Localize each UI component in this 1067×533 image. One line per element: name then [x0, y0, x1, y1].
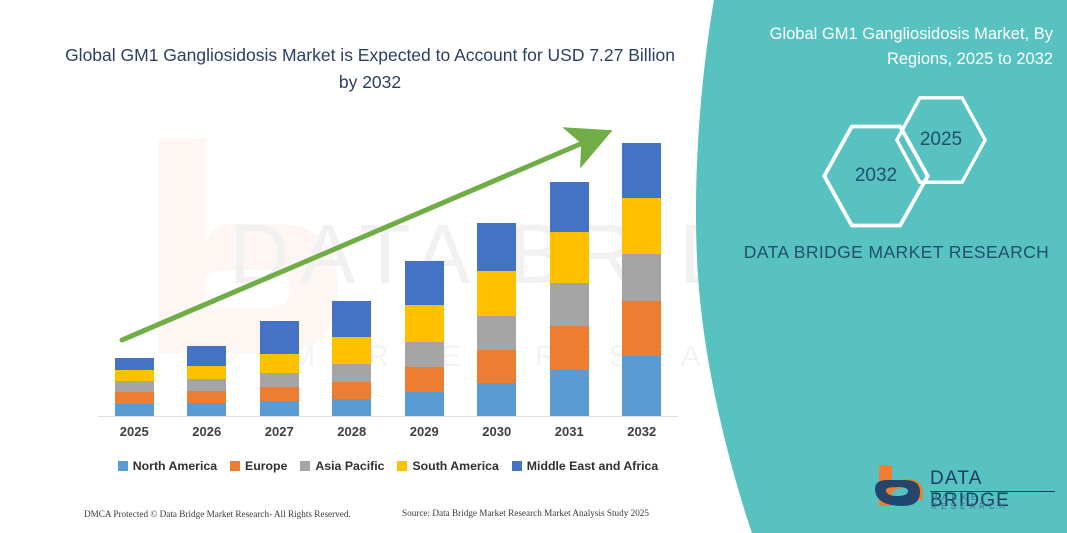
bar-segment[interactable] — [187, 366, 226, 379]
legend-label: Middle East and Africa — [527, 459, 658, 473]
panel-content: Global GM1 Gangliosidosis Market, By Reg… — [726, 0, 1067, 533]
bar-segment[interactable] — [115, 381, 154, 392]
x-axis-label-2030: 2030 — [461, 424, 533, 439]
bar-segment[interactable] — [115, 358, 154, 370]
chart-legend: North AmericaEuropeAsia PacificSouth Ame… — [98, 459, 678, 473]
x-axis-label-2025: 2025 — [98, 424, 170, 439]
logo-secondary-text: MARKET RESEARCH — [931, 493, 1062, 511]
legend-item[interactable]: Asia Pacific — [300, 459, 384, 473]
bar-segment[interactable] — [115, 370, 154, 381]
chart-area: Global GM1 Gangliosidosis Market is Expe… — [0, 0, 726, 533]
bar-segment[interactable] — [260, 387, 299, 401]
legend-label: South America — [412, 459, 498, 473]
bar-segment[interactable] — [260, 373, 299, 387]
bar-2030[interactable] — [477, 223, 516, 416]
bar-segment[interactable] — [405, 305, 444, 342]
bar-segment[interactable] — [477, 383, 516, 416]
legend-label: Asia Pacific — [315, 459, 384, 473]
bar-segment[interactable] — [187, 379, 226, 391]
legend-swatch-icon — [230, 461, 240, 471]
legend-swatch-icon — [300, 461, 310, 471]
bar-segment[interactable] — [115, 392, 154, 404]
x-axis-label-2032: 2032 — [606, 424, 678, 439]
x-axis-line — [98, 416, 678, 417]
company-logo: DATA BRIDGE MARKET RESEARCH — [872, 462, 1062, 514]
bar-segment[interactable] — [187, 403, 226, 416]
bar-segment[interactable] — [332, 382, 371, 399]
bar-2031[interactable] — [550, 182, 589, 416]
page-title: Global GM1 Gangliosidosis Market is Expe… — [60, 42, 680, 96]
bar-segment[interactable] — [622, 254, 661, 301]
bar-2026[interactable] — [187, 346, 226, 416]
legend-swatch-icon — [512, 461, 522, 471]
b-logo-icon — [872, 462, 928, 510]
bar-segment[interactable] — [550, 283, 589, 326]
legend-item[interactable]: Middle East and Africa — [512, 459, 658, 473]
bar-2032[interactable] — [622, 143, 661, 416]
legend-swatch-icon — [397, 461, 407, 471]
x-axis-label-2026: 2026 — [171, 424, 243, 439]
bar-2029[interactable] — [405, 261, 444, 416]
bar-segment[interactable] — [405, 261, 444, 305]
bar-segment[interactable] — [477, 223, 516, 271]
bar-segment[interactable] — [477, 316, 516, 350]
bar-segment[interactable] — [550, 370, 589, 416]
x-axis-label-2028: 2028 — [316, 424, 388, 439]
bar-segment[interactable] — [332, 301, 371, 337]
bar-segment[interactable] — [622, 301, 661, 356]
hexagon-end-year: 2032 — [821, 120, 931, 232]
legend-label: Europe — [245, 459, 287, 473]
bar-segment[interactable] — [622, 143, 661, 198]
bar-segment[interactable] — [260, 321, 299, 354]
bar-segment[interactable] — [332, 399, 371, 416]
infographic-root: DATA BRIDGE MARKET RESEARCH Global GM1 G… — [0, 0, 1067, 533]
bar-segment[interactable] — [260, 354, 299, 373]
bar-segment[interactable] — [260, 401, 299, 416]
copyright-notice: DMCA Protected © Data Bridge Market Rese… — [84, 509, 351, 519]
panel-title: Global GM1 Gangliosidosis Market, By Reg… — [738, 22, 1053, 72]
hexagon-group: 2025 2032 — [821, 92, 1021, 207]
bar-segment[interactable] — [115, 404, 154, 416]
bar-2025[interactable] — [115, 358, 154, 416]
x-axis-label-2027: 2027 — [243, 424, 315, 439]
bar-segment[interactable] — [332, 364, 371, 382]
legend-item[interactable]: South America — [397, 459, 498, 473]
stacked-bar-plot — [98, 120, 678, 416]
bar-segment[interactable] — [622, 198, 661, 254]
x-axis-labels: 20252026202720282029203020312032 — [98, 424, 678, 446]
bar-segment[interactable] — [477, 350, 516, 383]
bar-segment[interactable] — [550, 182, 589, 232]
hexagon-end-year-label: 2032 — [821, 120, 931, 232]
bar-2027[interactable] — [260, 321, 299, 416]
bar-segment[interactable] — [622, 356, 661, 416]
bar-segment[interactable] — [332, 337, 371, 364]
legend-swatch-icon — [118, 461, 128, 471]
bar-segment[interactable] — [187, 391, 226, 403]
legend-label: North America — [133, 459, 217, 473]
bar-segment[interactable] — [405, 392, 444, 416]
legend-item[interactable]: Europe — [230, 459, 287, 473]
bar-segment[interactable] — [187, 346, 226, 366]
source-notice: Source: Data Bridge Market Research Mark… — [402, 508, 649, 518]
x-axis-label-2029: 2029 — [388, 424, 460, 439]
bar-segment[interactable] — [550, 326, 589, 370]
logo-divider — [930, 491, 1055, 492]
bar-2028[interactable] — [332, 301, 371, 416]
bar-segment[interactable] — [405, 342, 444, 367]
legend-item[interactable]: North America — [118, 459, 217, 473]
bar-segment[interactable] — [477, 271, 516, 316]
x-axis-label-2031: 2031 — [533, 424, 605, 439]
bar-segment[interactable] — [405, 367, 444, 392]
brand-name: DATA BRIDGE MARKET RESEARCH — [726, 238, 1067, 266]
bar-segment[interactable] — [550, 232, 589, 283]
